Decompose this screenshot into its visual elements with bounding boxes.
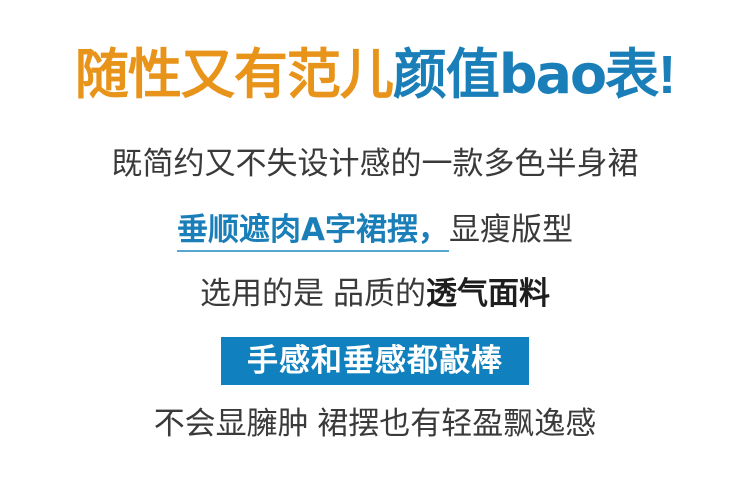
description-line-2-rest: 显瘦版型 <box>449 212 573 247</box>
description-line-1-text: 既简约又不失设计感的一款多色半身裙 <box>112 146 639 181</box>
description-line-1: 既简约又不失设计感的一款多色半身裙 <box>0 144 750 184</box>
status-badge: 手感和垂感都敲棒 <box>221 337 529 385</box>
page-title: 随性又有范儿颜值bao表! <box>0 44 750 106</box>
highlight-text-post: 字裙摆， <box>325 212 449 247</box>
description-line-4-text: 不会显臃肿 裙摆也有轻盈飘逸感 <box>154 406 597 441</box>
highlight-bar-row: 手感和垂感都敲棒 <box>0 337 750 385</box>
description-line-3-middle: 品质的 <box>333 276 426 311</box>
description-line-3-emphasis: 透气面料 <box>426 276 550 311</box>
description-line-4: 不会显臃肿 裙摆也有轻盈飘逸感 <box>0 404 750 444</box>
highlight-text-pre: 垂顺遮肉 <box>177 212 301 247</box>
promo-banner: 随性又有范儿颜值bao表! 既简约又不失设计感的一款多色半身裙 垂顺遮肉A字裙摆… <box>0 0 750 495</box>
title-blue-segment-post: 表! <box>605 45 675 105</box>
description-line-2-highlight: 垂顺遮肉A字裙摆， <box>177 212 449 252</box>
title-blue-segment-pre: 颜值 <box>393 45 499 105</box>
description-line-3-prefix: 选用的是 <box>200 276 324 311</box>
highlight-text-latin: A <box>301 212 325 248</box>
title-orange-segment: 随性又有范儿 <box>75 45 393 105</box>
description-line-3: 选用的是品质的透气面料 <box>0 274 750 314</box>
description-line-2: 垂顺遮肉A字裙摆，显瘦版型 <box>0 210 750 250</box>
title-blue-segment-latin: bao <box>499 43 605 106</box>
